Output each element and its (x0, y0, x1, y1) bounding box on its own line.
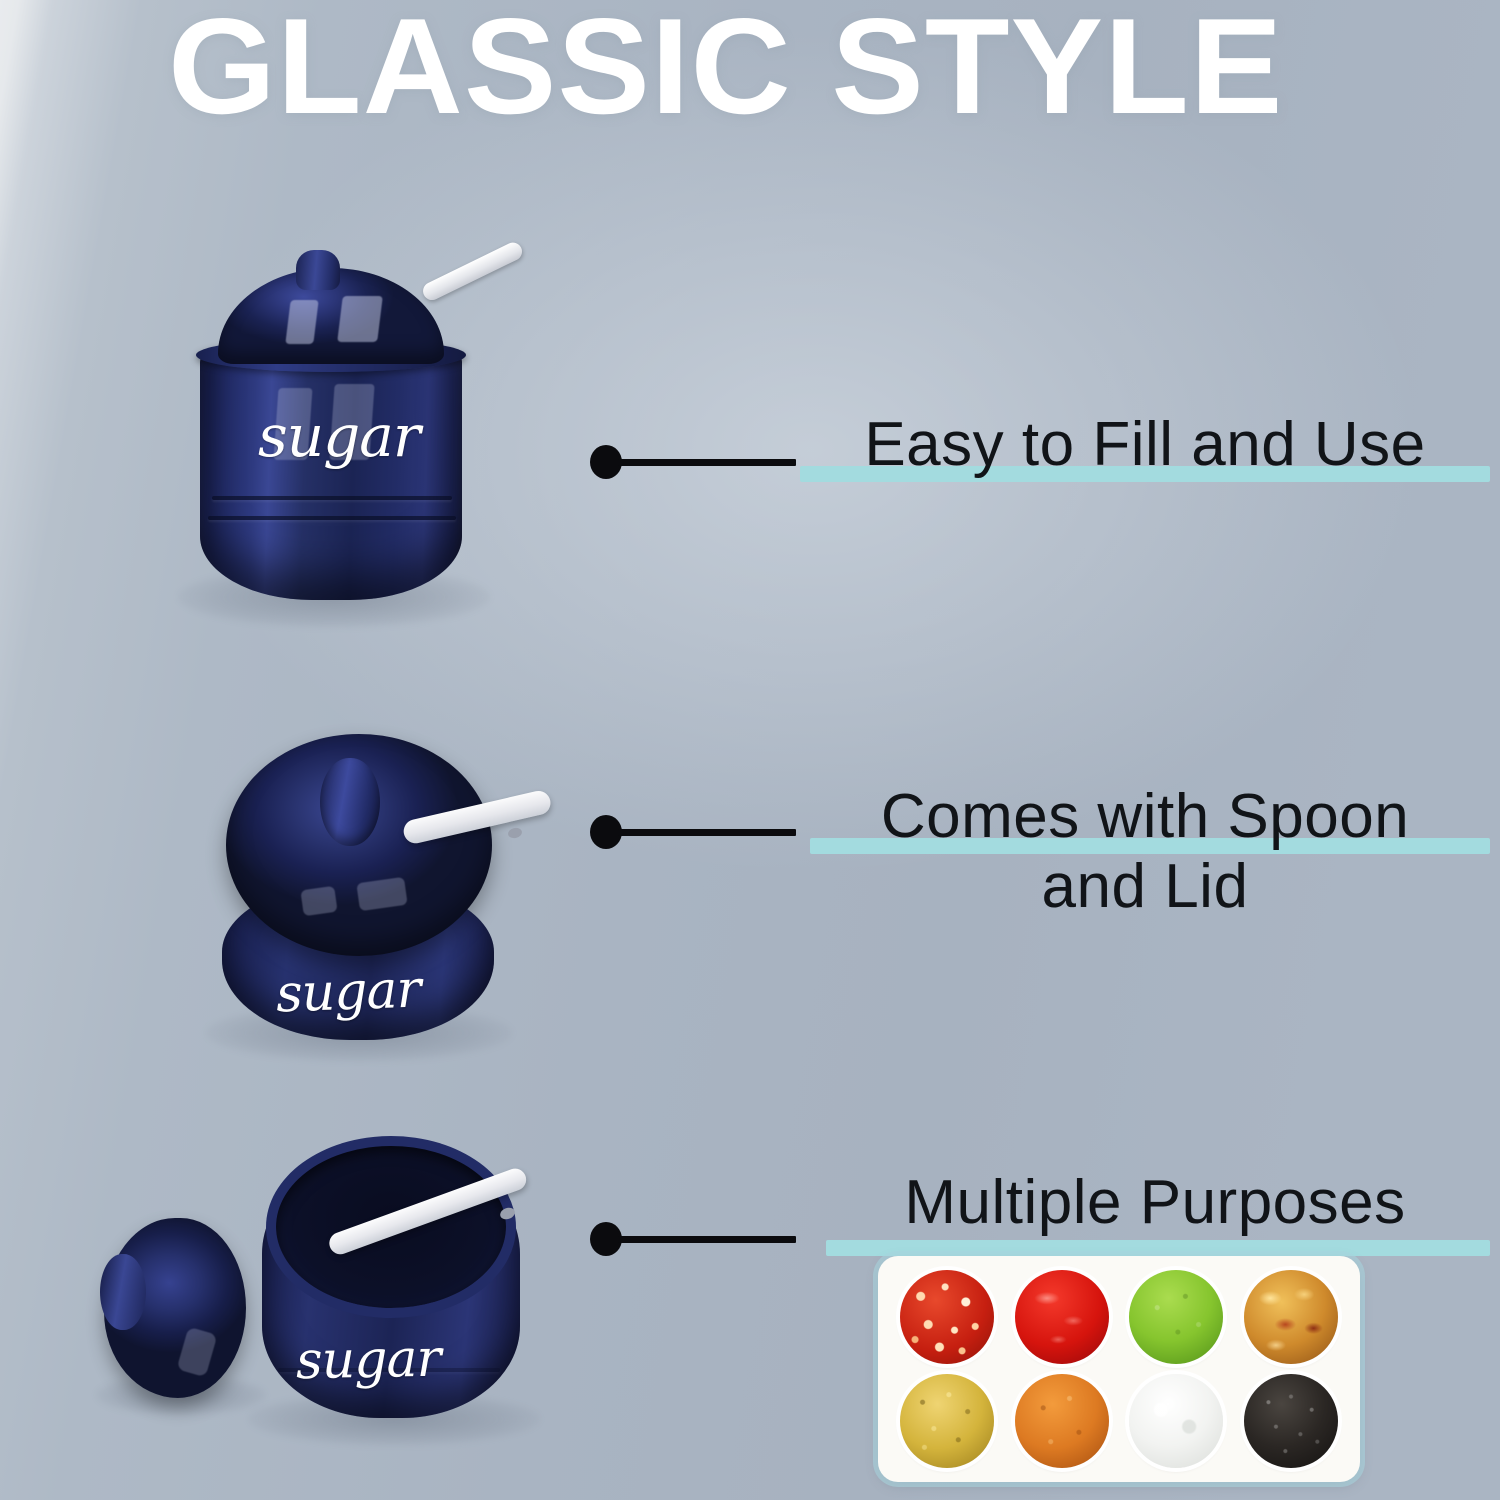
texture (1244, 1374, 1338, 1468)
feature-label: Easy to Fill and Use (800, 410, 1490, 480)
texture (900, 1270, 994, 1364)
feature-label: Comes with Spoon and Lid (800, 782, 1490, 922)
page-title: GLASSIC STYLE (168, 0, 1433, 136)
spice-dish-white-salt (1129, 1374, 1223, 1468)
leader-line (618, 459, 796, 466)
lid-highlight (337, 296, 383, 342)
texture (1015, 1374, 1109, 1468)
spoon-hole (507, 827, 523, 840)
leader-line (618, 1236, 796, 1243)
lid-highlight (285, 300, 318, 344)
spice-dish-black-sesame (1244, 1374, 1338, 1468)
highlight-bar (826, 1240, 1490, 1256)
jar-groove (208, 516, 456, 520)
spice-dish-red-chili-paste (1015, 1270, 1109, 1364)
jar-lid-knob (296, 250, 340, 290)
lid-highlight (300, 886, 337, 916)
jar-groove (212, 496, 452, 500)
jar-label-text: sugar (258, 402, 420, 470)
product-infographic: GLASSIC STYLE sugar sugar (0, 0, 1500, 1500)
spice-dish-matcha-powder (1129, 1270, 1223, 1364)
texture (900, 1374, 994, 1468)
feature-label: Multiple Purposes (820, 1168, 1490, 1238)
spice-dish-chili-powder (1015, 1374, 1109, 1468)
spice-dish-grid (894, 1268, 1344, 1470)
detached-lid-knob (100, 1254, 146, 1330)
spice-tray-image (878, 1256, 1360, 1482)
texture (1129, 1374, 1223, 1468)
spice-dish-chili-flakes (900, 1270, 994, 1364)
jar-label-text: sugar (295, 1329, 440, 1392)
spice-dish-mustard-seeds (900, 1374, 994, 1468)
leader-line (618, 829, 796, 836)
jar-lid-knob (320, 758, 380, 846)
texture (1015, 1270, 1109, 1364)
jar-label-text: sugar (275, 959, 421, 1024)
spice-dish-dried-fruit (1244, 1270, 1338, 1364)
jar-body (200, 348, 462, 600)
jar-spoon (420, 240, 525, 304)
texture (1244, 1270, 1338, 1364)
texture (1129, 1270, 1223, 1364)
